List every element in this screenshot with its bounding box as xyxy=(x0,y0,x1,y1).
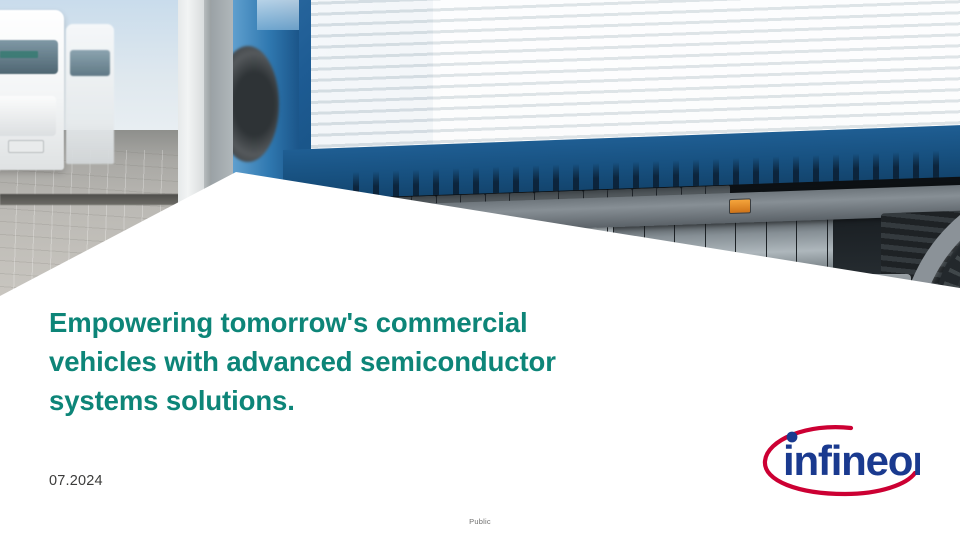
side-reflector-front xyxy=(408,210,430,226)
page-title-line-2: vehicles with advanced semiconductor xyxy=(49,342,709,381)
battery-module xyxy=(735,213,766,300)
white-truck-second xyxy=(66,24,114,164)
hv-junction-yellow xyxy=(425,250,447,291)
logo-i-dot xyxy=(787,432,798,443)
canopy-pillar-left xyxy=(178,0,204,300)
truck-windshield-second xyxy=(70,50,110,76)
battery-module xyxy=(705,214,736,300)
truck-license-plate xyxy=(8,140,44,153)
battery-module xyxy=(674,215,705,300)
page-title-line-3: systems solutions. xyxy=(49,381,709,420)
curb-line xyxy=(0,194,200,205)
truck-cab-roof xyxy=(257,0,299,30)
battery-module xyxy=(796,211,827,298)
axle-mount-block xyxy=(847,274,911,300)
blue-electric-truck xyxy=(233,0,960,300)
footer-classification: Public xyxy=(0,517,960,526)
page-title-line-1: Empowering tomorrow's commercial xyxy=(49,303,709,342)
white-truck-front xyxy=(0,10,64,170)
truck-grille xyxy=(0,96,56,136)
infineon-logo-mark: infineon xyxy=(755,418,920,500)
battery-module xyxy=(766,212,797,299)
hv-connector-red xyxy=(409,248,422,270)
slide-canvas: Empowering tomorrow's commercialvehicles… xyxy=(0,0,960,540)
battery-module xyxy=(613,217,644,300)
page-title: Empowering tomorrow's commercialvehicles… xyxy=(49,303,709,420)
canopy-pillar-left-edge xyxy=(204,0,211,300)
slide-date: 07.2024 xyxy=(49,473,103,489)
logo-wordmark: infineon xyxy=(783,437,920,484)
truck-stripe xyxy=(0,51,38,58)
infineon-logo: infineon xyxy=(755,418,920,500)
side-reflector-rear xyxy=(729,198,751,214)
hero-image xyxy=(0,0,960,300)
battery-module xyxy=(644,216,675,300)
